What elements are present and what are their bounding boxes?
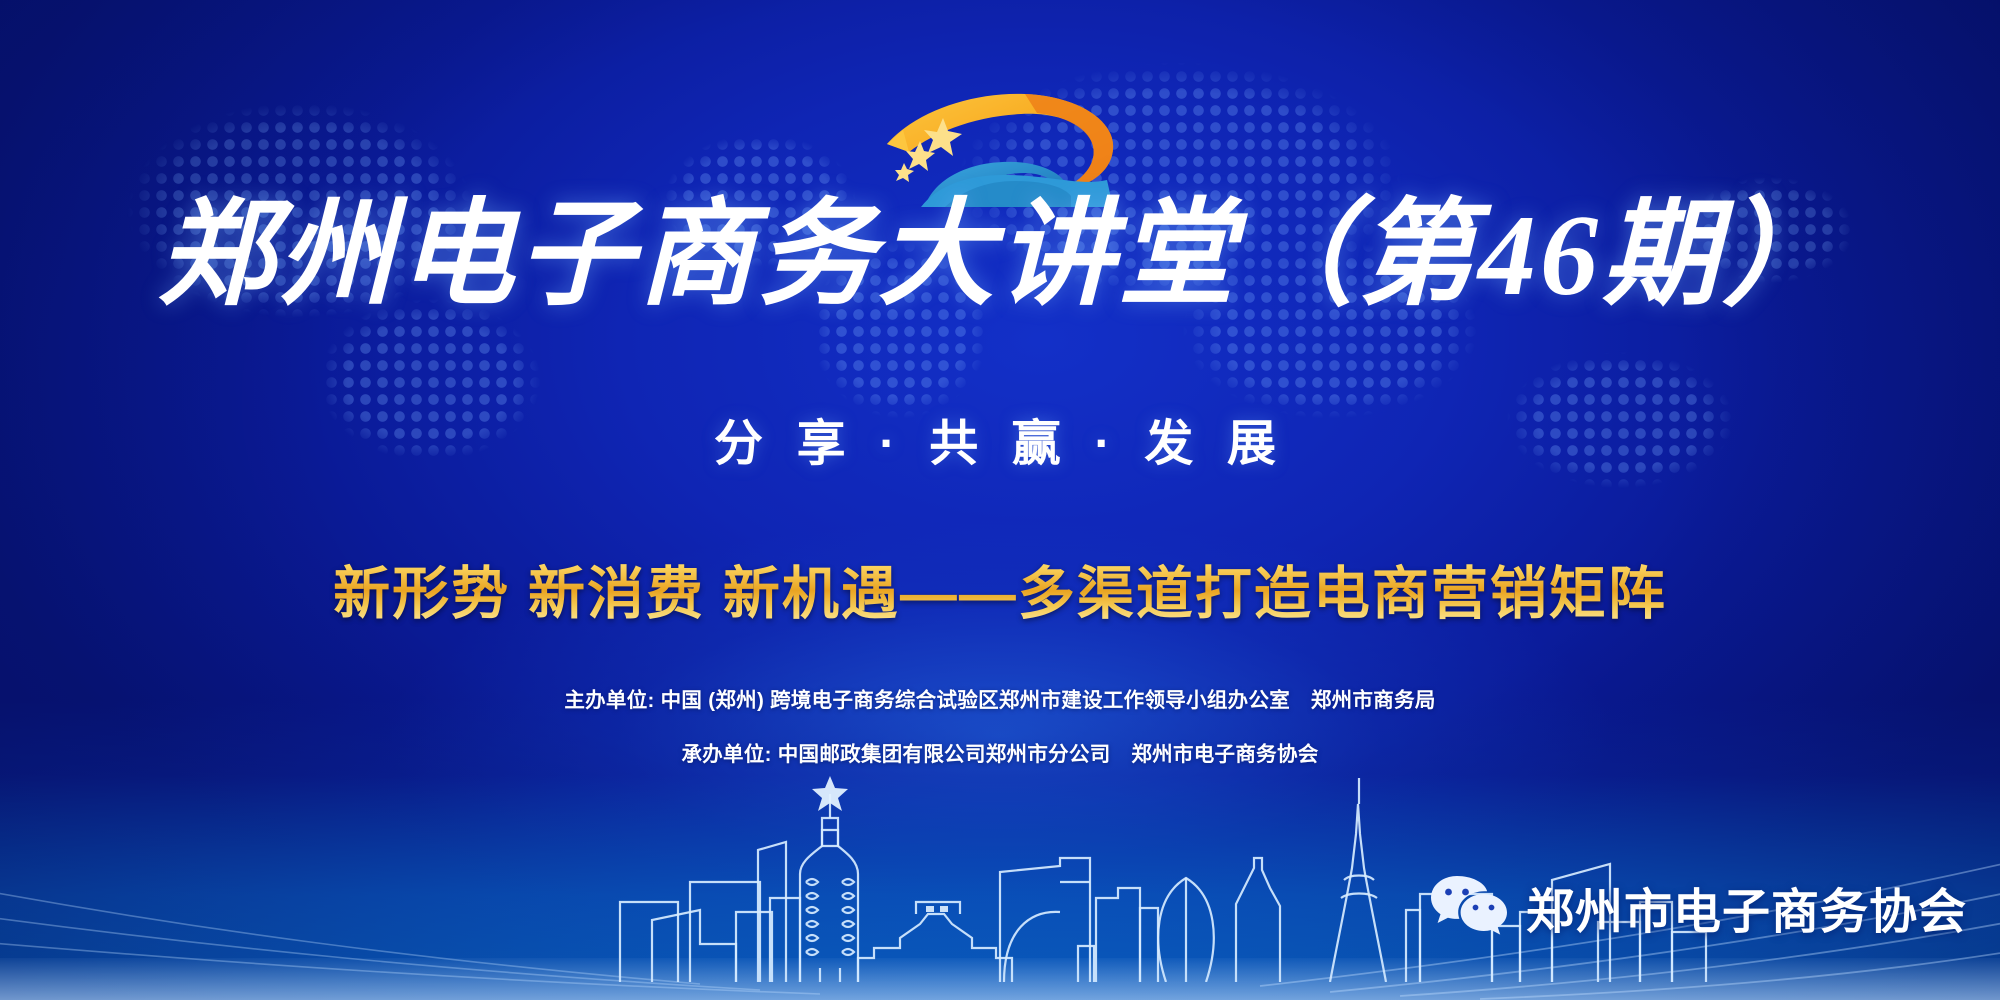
wechat-badge[interactable]: 郑州市电子商务协会 bbox=[1430, 872, 1967, 942]
poster-subtitle: 分 享 · 共 赢 · 发 展 bbox=[0, 404, 2000, 475]
poster-canvas: 郑州电子商务大讲堂（第46期） 分 享 · 共 赢 · 发 展 新形势 新消费 … bbox=[0, 0, 2000, 1000]
topic-headline: 新形势 新消费 新机遇——多渠道打造电商营销矩阵 bbox=[0, 548, 2000, 630]
page-title: 郑州电子商务大讲堂（第46期） bbox=[0, 196, 2000, 318]
wechat-account-name: 郑州市电子商务协会 bbox=[1526, 872, 1967, 942]
ground-glow bbox=[0, 958, 2000, 1000]
wechat-icon bbox=[1430, 874, 1508, 941]
ecommerce-swoosh-stars-logo bbox=[875, 82, 1125, 207]
organizer-line: 主办单位: 中国 (郑州) 跨境电子商务综合试验区郑州市建设工作领导小组办公室 … bbox=[0, 683, 2000, 713]
